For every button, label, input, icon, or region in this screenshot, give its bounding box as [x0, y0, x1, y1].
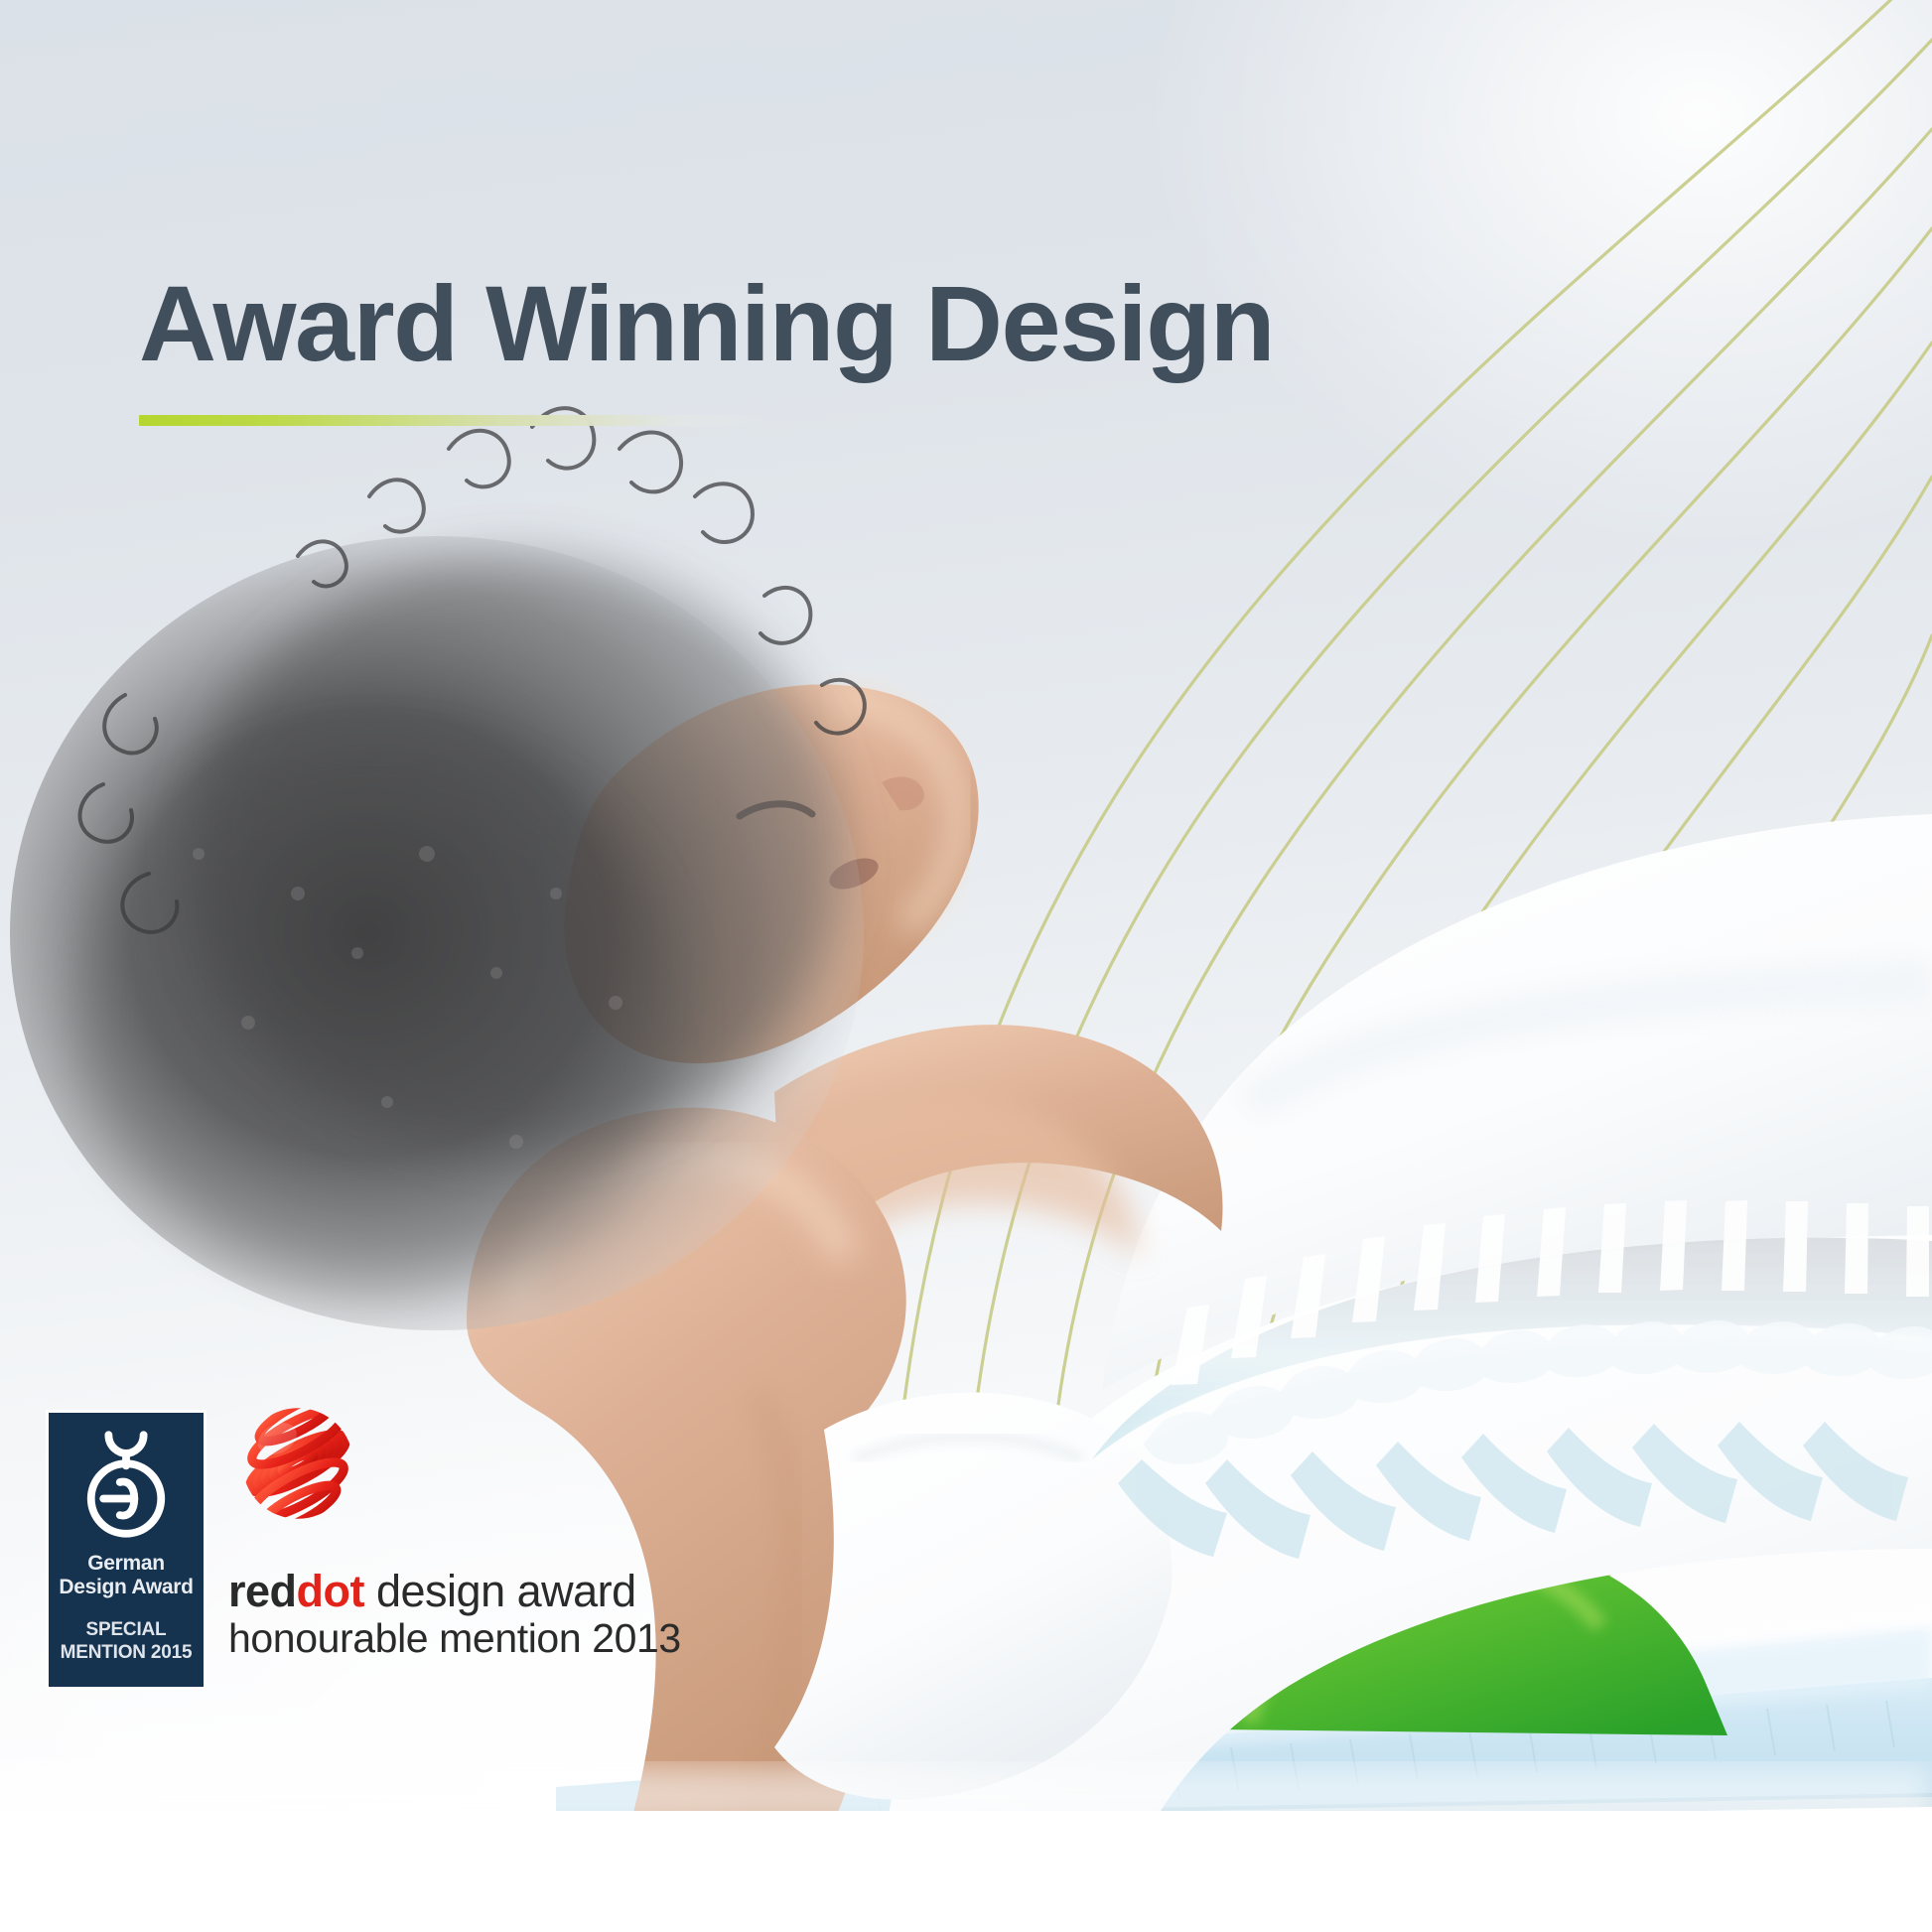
reddot-sphere-icon	[236, 1402, 359, 1525]
page-title: Award Winning Design	[139, 270, 1330, 377]
reddot-wordmark: reddot design award honourable mention 2…	[228, 1569, 645, 1660]
headline-block: Award Winning Design	[139, 270, 1330, 426]
gda-name-line1: German	[87, 1552, 165, 1575]
gda-subtitle: SPECIAL MENTION 2015	[49, 1619, 204, 1664]
reddot-red: red	[228, 1566, 297, 1616]
gda-sub-line2: MENTION 2015	[61, 1642, 193, 1663]
reddot-line2: honourable mention 2013	[228, 1618, 645, 1660]
award-badges: German Design Award SPECIAL MENTION 2015	[46, 1410, 645, 1690]
gda-name-line2: Design Award	[59, 1576, 193, 1598]
headline-accent-rule	[139, 415, 774, 426]
reddot-design-award-badge: reddot design award honourable mention 2…	[228, 1410, 645, 1690]
reddot-design-award: design award	[364, 1566, 636, 1616]
reddot-line1: reddot design award	[228, 1569, 645, 1614]
german-design-award-mark-icon	[74, 1429, 178, 1540]
award-winning-design-banner: Award Winning Design German Design Award	[0, 0, 1932, 1932]
german-design-award-badge: German Design Award SPECIAL MENTION 2015	[46, 1410, 207, 1690]
gda-name: German Design Award	[49, 1552, 204, 1599]
gda-sub-line1: SPECIAL	[86, 1619, 167, 1640]
reddot-dot: dot	[297, 1566, 364, 1616]
